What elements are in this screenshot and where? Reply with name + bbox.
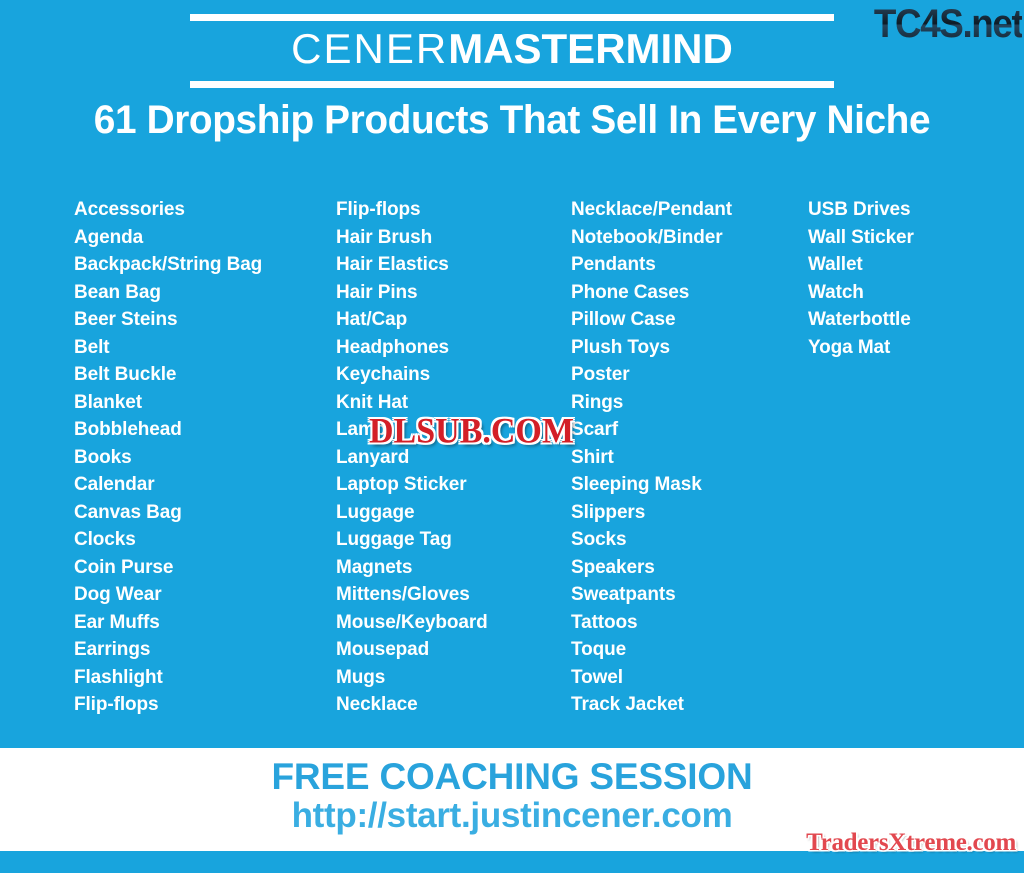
list-item: Magnets	[336, 554, 571, 582]
list-item: Yoga Mat	[808, 334, 954, 362]
list-item: Notebook/Binder	[571, 224, 808, 252]
list-item: Plush Toys	[571, 334, 808, 362]
list-item: Earrings	[74, 636, 336, 664]
list-item: Slippers	[571, 499, 808, 527]
list-item: Luggage Tag	[336, 526, 571, 554]
list-item: Phone Cases	[571, 279, 808, 307]
list-item: Mittens/Gloves	[336, 581, 571, 609]
list-item: Calendar	[74, 471, 336, 499]
list-item: Necklace	[336, 691, 571, 719]
list-item: Shirt	[571, 444, 808, 472]
list-item: Dog Wear	[74, 581, 336, 609]
list-item: Rings	[571, 389, 808, 417]
list-item: Backpack/String Bag	[74, 251, 336, 279]
logo-rule-bottom	[190, 81, 834, 88]
list-item: Mouse/Keyboard	[336, 609, 571, 637]
list-item: Canvas Bag	[74, 499, 336, 527]
list-item: USB Drives	[808, 196, 954, 224]
list-item: Hair Brush	[336, 224, 571, 252]
product-column-4: USB Drives Wall Sticker Wallet Watch Wat…	[808, 196, 954, 361]
list-item: Coin Purse	[74, 554, 336, 582]
product-list: Accessories Agenda Backpack/String Bag B…	[74, 196, 954, 719]
list-item: Sweatpants	[571, 581, 808, 609]
list-item: Agenda	[74, 224, 336, 252]
list-item: Flip-flops	[74, 691, 336, 719]
list-item: Towel	[571, 664, 808, 692]
list-item: Laptop Sticker	[336, 471, 571, 499]
list-item: Track Jacket	[571, 691, 808, 719]
list-item: Pillow Case	[571, 306, 808, 334]
list-item: Wallet	[808, 251, 954, 279]
footer-headline: FREE COACHING SESSION	[0, 756, 1024, 798]
list-item: Hat/Cap	[336, 306, 571, 334]
list-item: Mugs	[336, 664, 571, 692]
list-item: Bobblehead	[74, 416, 336, 444]
page-title: 61 Dropship Products That Sell In Every …	[15, 98, 1008, 143]
list-item: Bean Bag	[74, 279, 336, 307]
list-item: Books	[74, 444, 336, 472]
list-item: Hair Elastics	[336, 251, 571, 279]
list-item: Speakers	[571, 554, 808, 582]
list-item: Toque	[571, 636, 808, 664]
list-item: Necklace/Pendant	[571, 196, 808, 224]
list-item: Poster	[571, 361, 808, 389]
list-item: Headphones	[336, 334, 571, 362]
list-item: Blanket	[74, 389, 336, 417]
watermark-dlsub: DLSUB.COM	[369, 412, 574, 452]
poster-canvas: TC4S.net TC4S.net CENERMASTERMIND 61 Dro…	[0, 0, 1024, 873]
list-item: Scarf	[571, 416, 808, 444]
list-item: Waterbottle	[808, 306, 954, 334]
list-item: Hair Pins	[336, 279, 571, 307]
product-column-1: Accessories Agenda Backpack/String Bag B…	[74, 196, 336, 719]
list-item: Wall Sticker	[808, 224, 954, 252]
logo-word-bold: MASTERMIND	[448, 25, 733, 72]
list-item: Socks	[571, 526, 808, 554]
logo-word-light: CENER	[291, 25, 448, 72]
list-item: Watch	[808, 279, 954, 307]
logo-rule-top	[190, 14, 834, 21]
list-item: Mousepad	[336, 636, 571, 664]
product-column-3: Necklace/Pendant Notebook/Binder Pendant…	[571, 196, 808, 719]
brand-logo: CENERMASTERMIND	[0, 14, 1024, 88]
list-item: Keychains	[336, 361, 571, 389]
list-item: Sleeping Mask	[571, 471, 808, 499]
logo-text: CENERMASTERMIND	[0, 21, 1024, 75]
list-item: Flashlight	[74, 664, 336, 692]
product-column-2: Flip-flops Hair Brush Hair Elastics Hair…	[336, 196, 571, 719]
list-item: Accessories	[74, 196, 336, 224]
list-item: Luggage	[336, 499, 571, 527]
list-item: Ear Muffs	[74, 609, 336, 637]
list-item: Tattoos	[571, 609, 808, 637]
watermark-tradersxtreme: TradersXtreme.com	[806, 829, 1016, 857]
list-item: Pendants	[571, 251, 808, 279]
list-item: Flip-flops	[336, 196, 571, 224]
list-item: Clocks	[74, 526, 336, 554]
list-item: Belt Buckle	[74, 361, 336, 389]
list-item: Beer Steins	[74, 306, 336, 334]
list-item: Belt	[74, 334, 336, 362]
